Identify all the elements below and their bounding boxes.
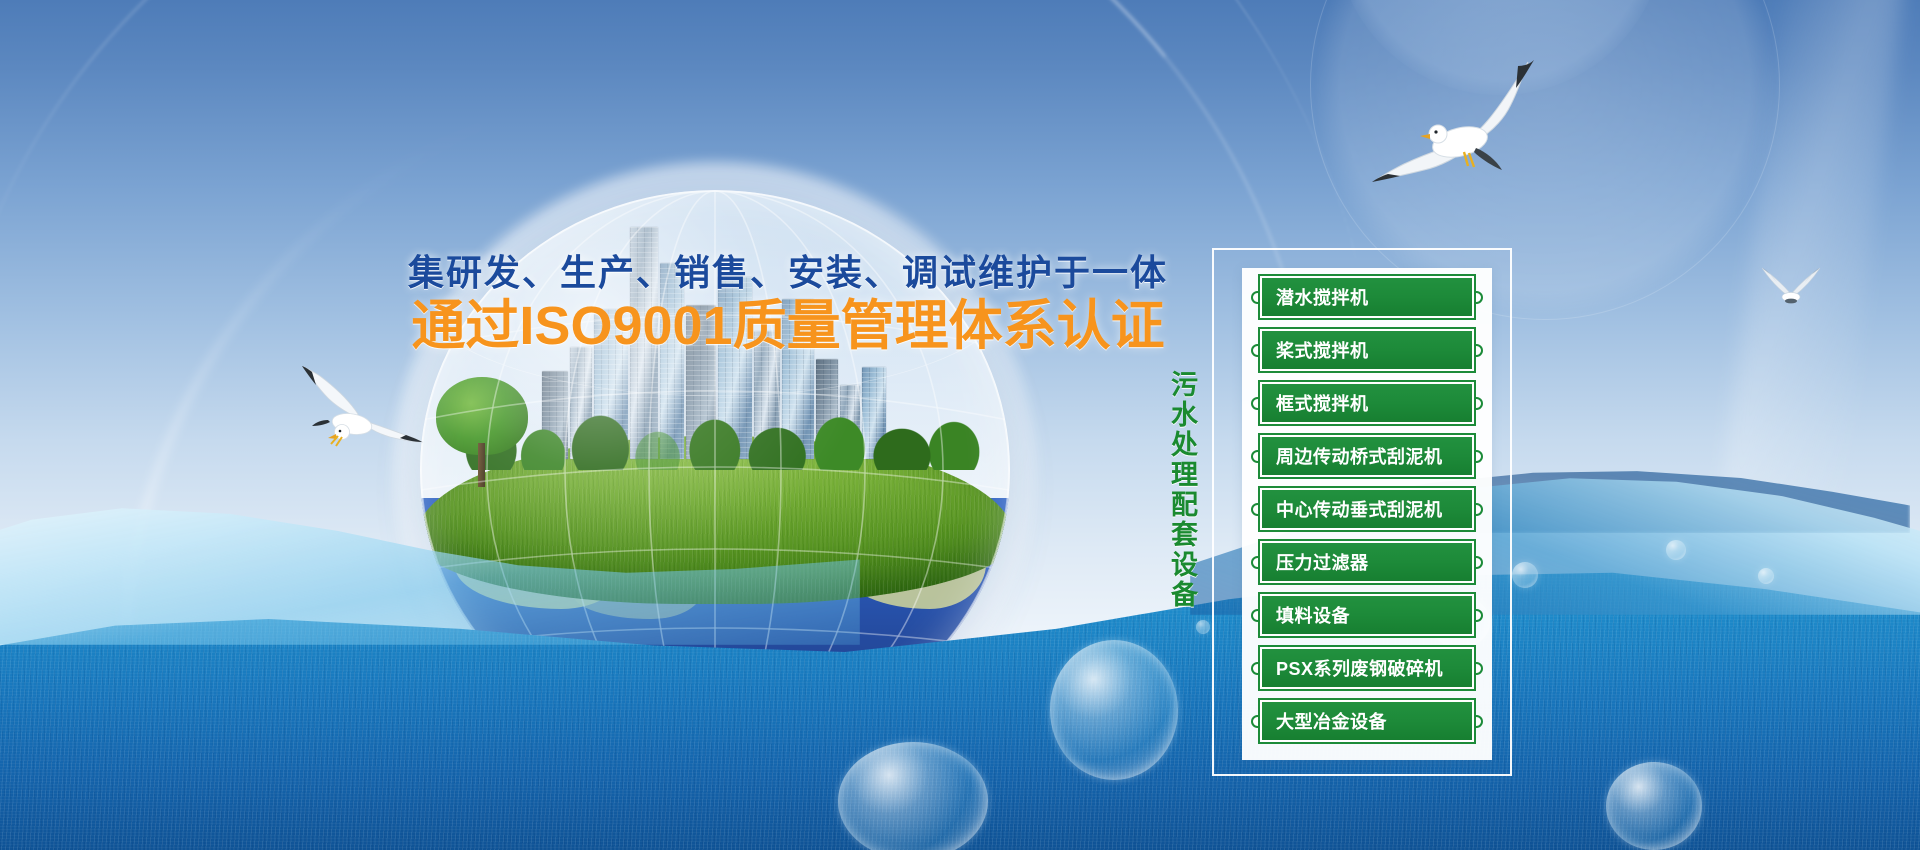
product-plate[interactable]: 大型冶金设备: [1260, 700, 1474, 742]
product-label: 大型冶金设备: [1262, 708, 1387, 734]
headline-secondary: 通过ISO9001质量管理体系认证: [388, 297, 1188, 355]
product-plate[interactable]: 周边传动桥式刮泥机: [1260, 435, 1474, 477]
product-label: PSX系列废钢破碎机: [1262, 655, 1443, 681]
product-plate[interactable]: 潜水搅拌机: [1260, 276, 1474, 318]
lens-flare-icon: [1335, 0, 1665, 95]
light-streak: [1721, 0, 1908, 505]
list-item[interactable]: 潜水搅拌机: [1252, 273, 1482, 321]
panel-vertical-label: 污水处理配套设备: [1160, 370, 1202, 610]
product-plate[interactable]: 填料设备: [1260, 594, 1474, 636]
list-item[interactable]: 压力过滤器: [1252, 538, 1482, 586]
product-plate[interactable]: 中心传动垂式刮泥机: [1260, 488, 1474, 530]
headline-primary: 集研发、生产、销售、安装、调试维护于一体: [388, 252, 1188, 293]
product-plate[interactable]: 压力过滤器: [1260, 541, 1474, 583]
product-label: 框式搅拌机: [1262, 390, 1369, 416]
product-plate[interactable]: 桨式搅拌机: [1260, 329, 1474, 371]
product-list: 潜水搅拌机 桨式搅拌机 框式搅拌机: [1242, 268, 1492, 760]
product-label: 周边传动桥式刮泥机: [1262, 443, 1443, 469]
list-item[interactable]: 中心传动垂式刮泥机: [1252, 485, 1482, 533]
list-item[interactable]: 桨式搅拌机: [1252, 326, 1482, 374]
product-label: 填料设备: [1262, 602, 1350, 628]
product-label: 桨式搅拌机: [1262, 337, 1369, 363]
promo-banner: 集研发、生产、销售、安装、调试维护于一体 通过ISO9001质量管理体系认证: [0, 0, 1920, 850]
product-plate[interactable]: 框式搅拌机: [1260, 382, 1474, 424]
product-plate[interactable]: PSX系列废钢破碎机: [1260, 647, 1474, 689]
tree-band: [460, 400, 980, 470]
bubble-icon: [1758, 568, 1774, 584]
bubble-icon: [1666, 540, 1686, 560]
product-label: 潜水搅拌机: [1262, 284, 1369, 310]
headline-block: 集研发、生产、销售、安装、调试维护于一体 通过ISO9001质量管理体系认证: [388, 252, 1188, 356]
list-item[interactable]: 周边传动桥式刮泥机: [1252, 432, 1482, 480]
list-item[interactable]: 填料设备: [1252, 591, 1482, 639]
tree-icon: [436, 377, 528, 487]
product-label: 中心传动垂式刮泥机: [1262, 496, 1443, 522]
list-item[interactable]: PSX系列废钢破碎机: [1252, 644, 1482, 692]
list-item[interactable]: 大型冶金设备: [1252, 697, 1482, 745]
product-label: 压力过滤器: [1262, 549, 1369, 575]
list-item[interactable]: 框式搅拌机: [1252, 379, 1482, 427]
product-list-panel: 污水处理配套设备 潜水搅拌机 桨式搅拌机 框式搅拌机: [1212, 248, 1512, 776]
seagull-icon: [1368, 52, 1568, 204]
